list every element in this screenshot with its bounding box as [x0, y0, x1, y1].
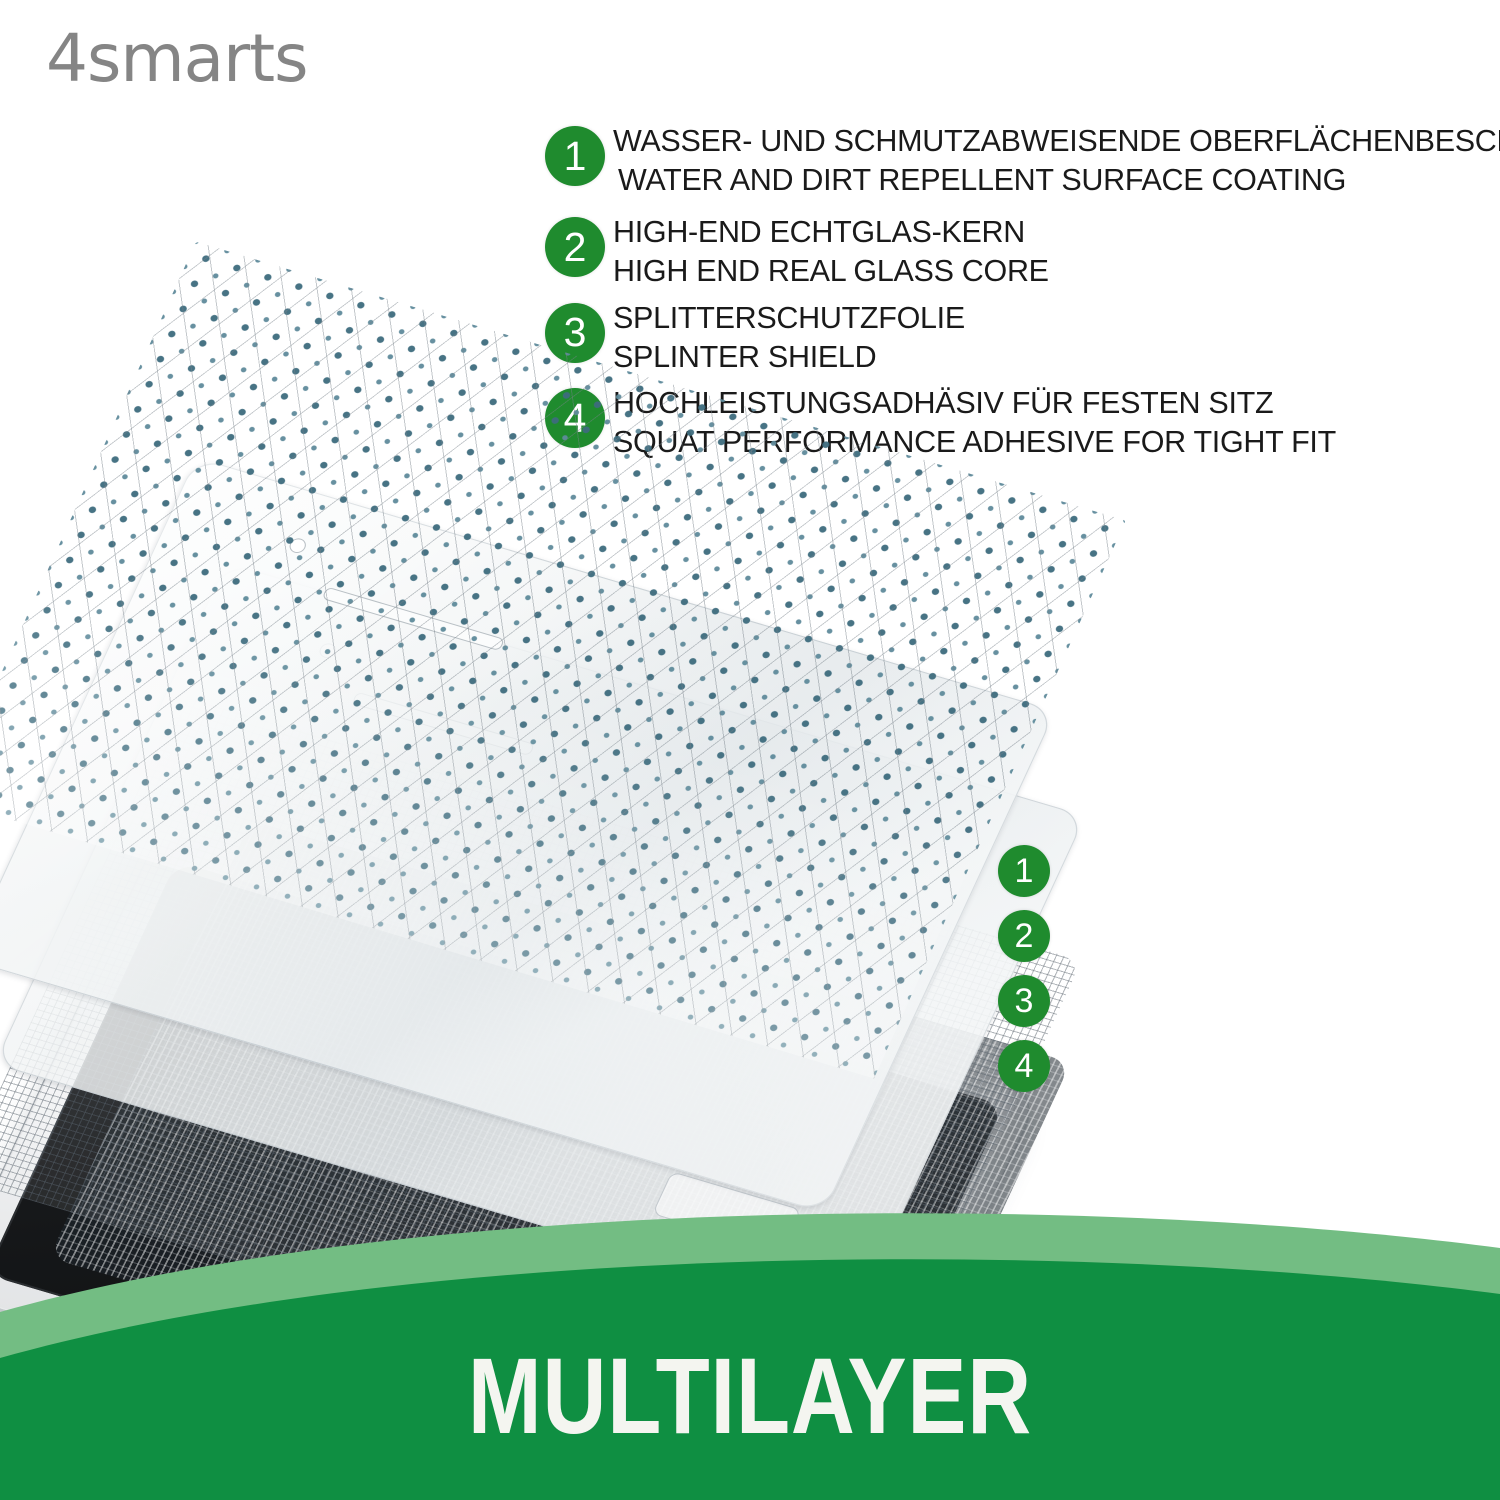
legend-line-de: HIGH-END ECHTGLAS-KERN: [613, 213, 1445, 252]
brand-logo: 4smarts: [46, 26, 308, 92]
legend-text-1: WASSER- UND SCHMUTZABWEISENDE OBERFLÄCHE…: [613, 120, 1445, 199]
exploded-product-illustration: [0, 340, 1060, 1320]
legend-badge-2: 2: [545, 217, 605, 277]
legend-line-de: WASSER- UND SCHMUTZABWEISENDE OBERFLÄCHE…: [613, 122, 1445, 161]
legend-item: 1 WASSER- UND SCHMUTZABWEISENDE OBERFLÄC…: [545, 120, 1445, 199]
side-marker-4: 4: [998, 1040, 1050, 1092]
legend-text-2: HIGH-END ECHTGLAS-KERN HIGH END REAL GLA…: [613, 211, 1445, 290]
legend-line-en: WATER AND DIRT REPELLENT SURFACE COATING: [613, 161, 1445, 200]
product-infographic: 4smarts 1 WASSER- UND SCHMUTZABWEISENDE …: [0, 0, 1500, 1500]
legend-line-de: SPLITTERSCHUTZFOLIE: [613, 299, 1445, 338]
layer-number-markers: 1 2 3 4: [998, 845, 1058, 1105]
side-marker-1: 1: [998, 845, 1050, 897]
legend-item: 2 HIGH-END ECHTGLAS-KERN HIGH END REAL G…: [545, 211, 1445, 290]
bottom-banner: MULTILAYER: [0, 1200, 1500, 1500]
banner-title: MULTILAYER: [135, 1342, 1365, 1450]
legend-line-en: HIGH END REAL GLASS CORE: [613, 252, 1445, 291]
side-marker-2: 2: [998, 910, 1050, 962]
side-marker-3: 3: [998, 975, 1050, 1027]
legend-badge-1: 1: [545, 126, 605, 186]
